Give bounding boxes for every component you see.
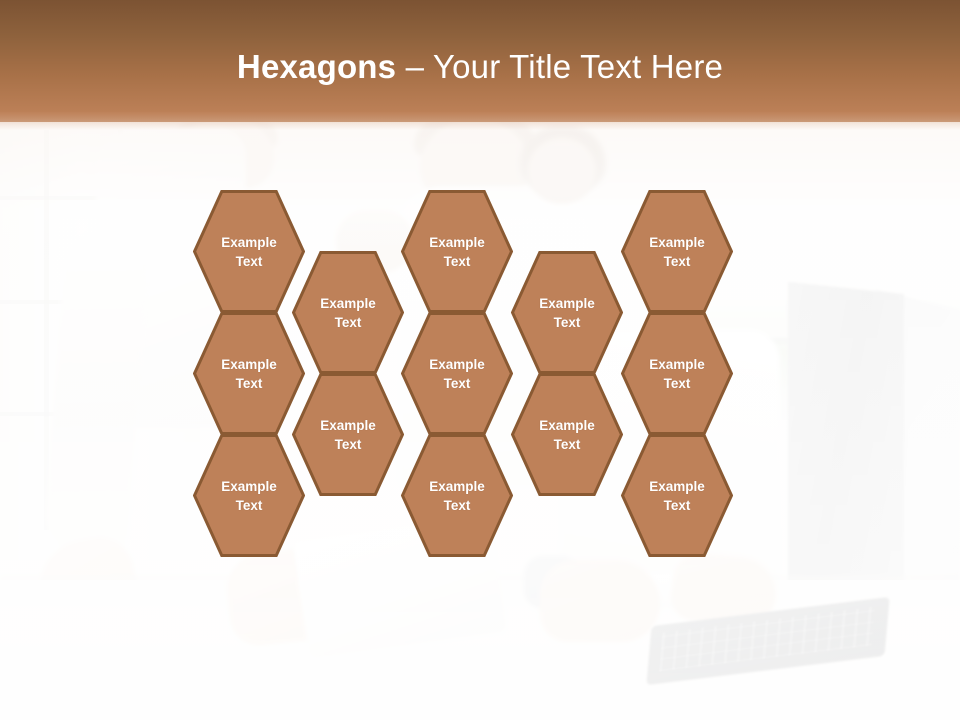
hexagon-hex-c5-r2[interactable]: ExampleText (621, 312, 733, 435)
hexagon-hex-c1-r1[interactable]: ExampleText (193, 190, 305, 313)
hexagon-shape (511, 373, 623, 496)
hexagon-shape (193, 190, 305, 313)
hexagon-hex-c3-r1[interactable]: ExampleText (401, 190, 513, 313)
hexagon-shape (401, 434, 513, 557)
hexagon-shape (511, 251, 623, 374)
hexagon-shape (292, 251, 404, 374)
hexagon-shape (621, 434, 733, 557)
hexagon-hex-c1-r2[interactable]: ExampleText (193, 312, 305, 435)
hexagon-hex-c3-r2[interactable]: ExampleText (401, 312, 513, 435)
hexagon-shape (621, 312, 733, 435)
hexagon-shape (401, 190, 513, 313)
hexagon-hex-c2-r2[interactable]: ExampleText (292, 373, 404, 496)
hexagon-grid: ExampleTextExampleTextExampleTextExample… (0, 0, 960, 720)
hexagon-hex-c1-r3[interactable]: ExampleText (193, 434, 305, 557)
hexagon-hex-c3-r3[interactable]: ExampleText (401, 434, 513, 557)
hexagon-shape (193, 434, 305, 557)
hexagon-shape (292, 373, 404, 496)
slide-canvas: Hexagons – Your Title Text Here ExampleT… (0, 0, 960, 720)
hexagon-hex-c2-r1[interactable]: ExampleText (292, 251, 404, 374)
hexagon-shape (401, 312, 513, 435)
hexagon-shape (193, 312, 305, 435)
hexagon-hex-c5-r3[interactable]: ExampleText (621, 434, 733, 557)
hexagon-hex-c4-r2[interactable]: ExampleText (511, 373, 623, 496)
hexagon-hex-c4-r1[interactable]: ExampleText (511, 251, 623, 374)
hexagon-shape (621, 190, 733, 313)
hexagon-hex-c5-r1[interactable]: ExampleText (621, 190, 733, 313)
